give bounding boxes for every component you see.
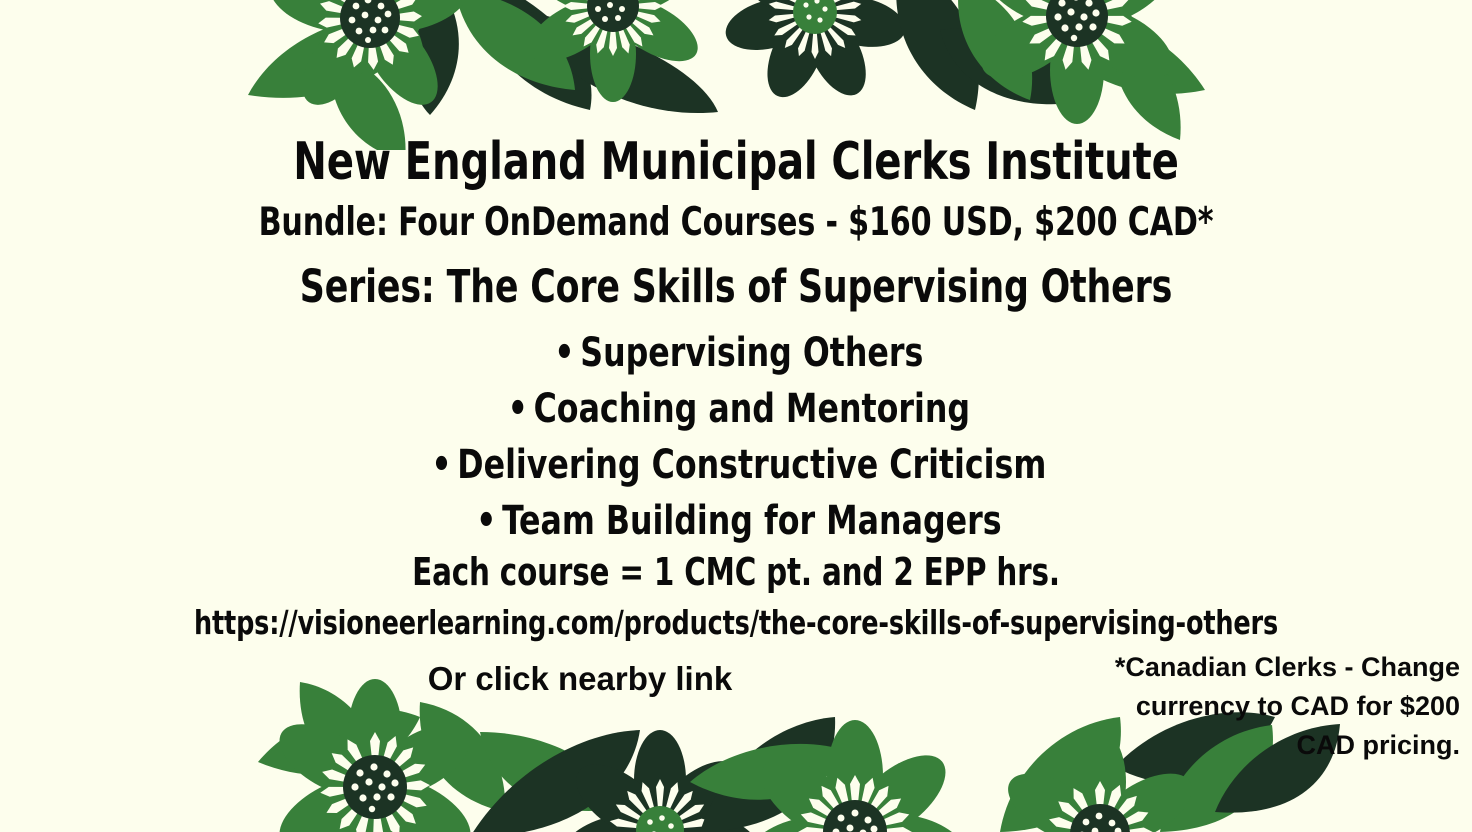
product-url-text[interactable]: https://visioneerlearning.com/products/t…: [103, 606, 1369, 639]
list-item-label: Coaching and Mentoring: [534, 386, 971, 432]
canadian-pricing-footnote: *Canadian Clerks - Change currency to CA…: [1040, 648, 1460, 765]
bullet-icon: •: [549, 325, 581, 381]
footnote-line-2: currency to CAD for $200: [1040, 687, 1460, 726]
series-title: Series: The Core Skills of Supervising O…: [103, 264, 1369, 309]
list-item: •Coaching and Mentoring: [88, 381, 1383, 437]
click-link-hint: Or click nearby link: [0, 660, 1160, 698]
list-item: •Team Building for Managers: [88, 493, 1383, 549]
list-item: •Supervising Others: [88, 325, 1383, 381]
list-item-label: Team Building for Managers: [502, 498, 1002, 544]
page-title: New England Municipal Clerks Institute: [103, 136, 1369, 188]
credit-note: Each course = 1 CMC pt. and 2 EPP hrs.: [103, 553, 1369, 591]
bundle-price-line: Bundle: Four OnDemand Courses - $160 USD…: [103, 203, 1369, 242]
bullet-icon: •: [470, 493, 502, 549]
bullet-icon: •: [426, 437, 458, 493]
bullet-icon: •: [502, 381, 534, 437]
flyer-text-content: New England Municipal Clerks Institute B…: [0, 0, 1472, 832]
footnote-line-3: CAD pricing.: [1040, 726, 1460, 765]
list-item-label: Delivering Constructive Criticism: [457, 442, 1046, 488]
list-item-label: Supervising Others: [580, 330, 923, 376]
course-list: •Supervising Others •Coaching and Mentor…: [0, 325, 1472, 549]
footnote-line-1: *Canadian Clerks - Change: [1040, 648, 1460, 687]
flyer-canvas: New England Municipal Clerks Institute B…: [0, 0, 1472, 832]
list-item: •Delivering Constructive Criticism: [88, 437, 1383, 493]
